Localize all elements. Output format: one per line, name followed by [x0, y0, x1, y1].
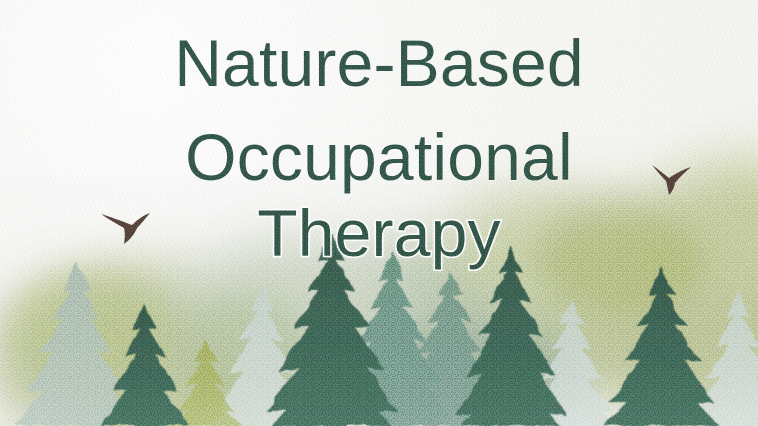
poster-canvas: Nature-Based Occupational Therapy — [0, 0, 758, 426]
bird-right-icon — [650, 162, 694, 196]
bird-left-icon — [98, 205, 154, 245]
